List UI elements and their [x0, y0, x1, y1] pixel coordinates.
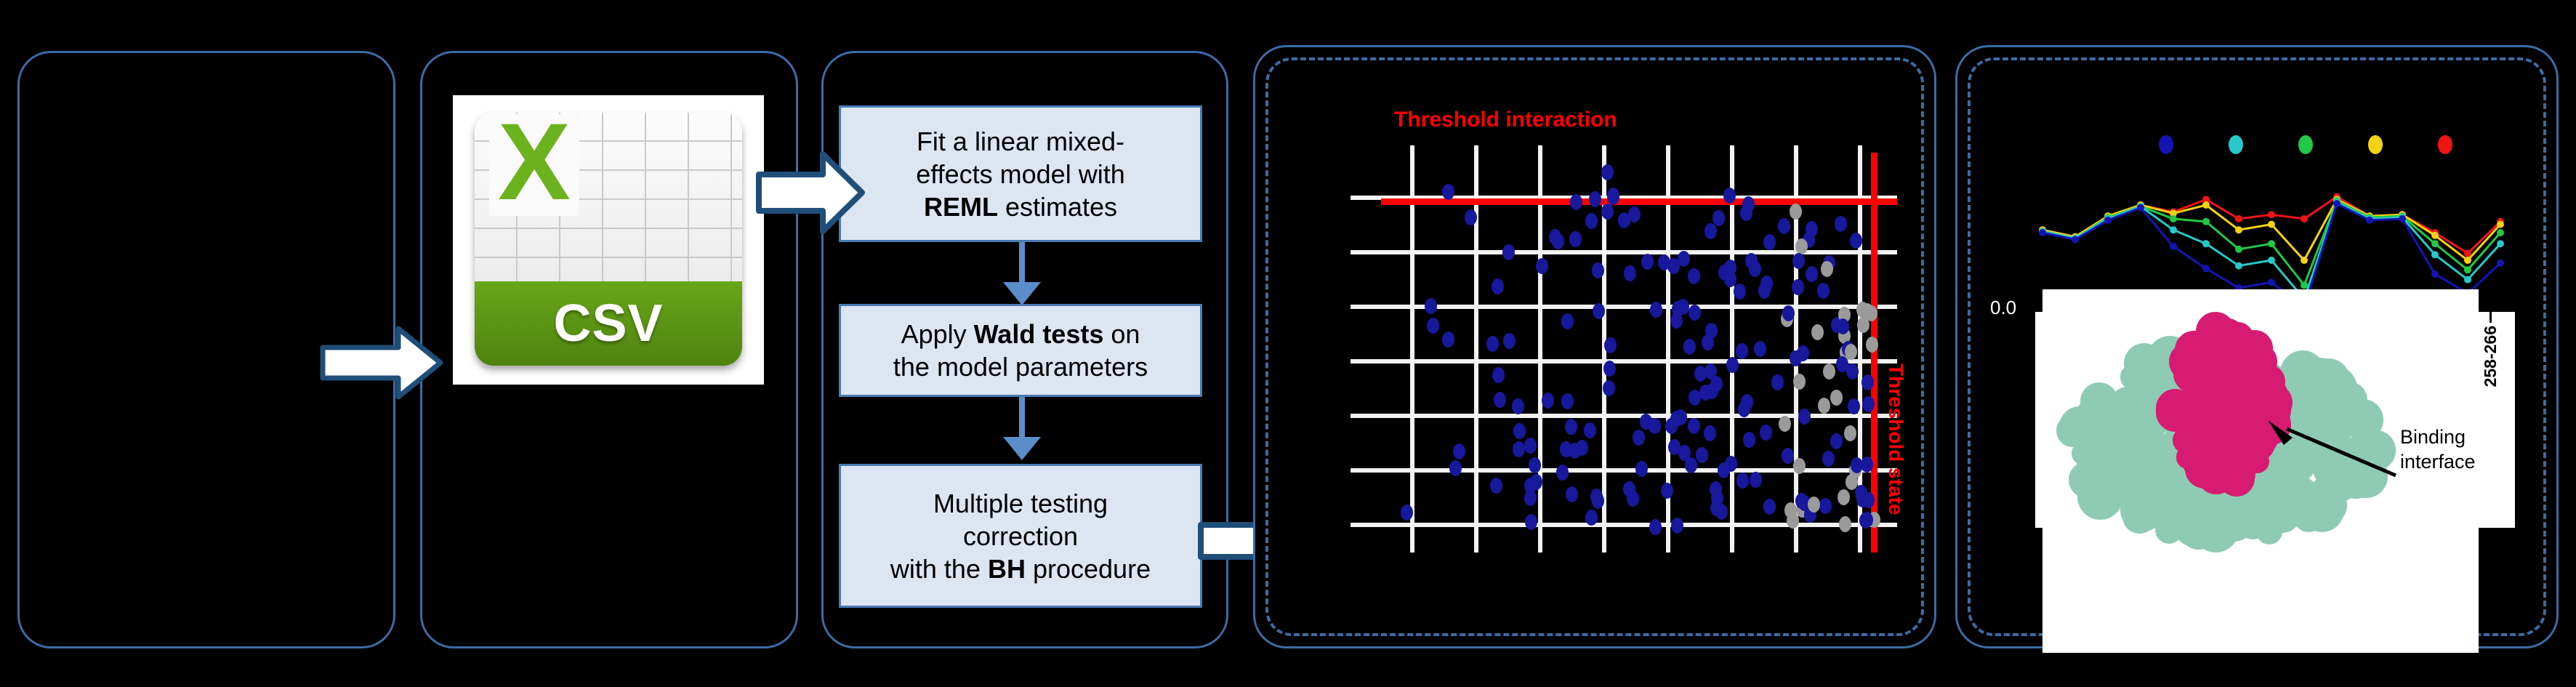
volcano-point-significant	[1641, 254, 1654, 270]
peptide-data-point	[2268, 221, 2275, 228]
volcano-point-significant	[1702, 334, 1714, 350]
peptide-data-point	[2268, 278, 2275, 286]
step-reml-line2: effects model with	[916, 159, 1124, 189]
volcano-point-significant	[1671, 518, 1683, 534]
arrow-input-to-csv	[320, 323, 443, 403]
peptide-data-point	[2497, 260, 2504, 267]
peptide-data-point	[2431, 251, 2439, 258]
binding-interface-line2: interface	[2400, 451, 2476, 473]
csv-card: X CSV	[453, 95, 764, 385]
volcano-point-significant	[1724, 271, 1736, 287]
connector-reml-to-wald	[1019, 242, 1025, 287]
peptide-data-point	[2301, 281, 2308, 289]
step-wald-line2: the model parameters	[893, 352, 1148, 382]
volcano-point-significant	[1494, 392, 1506, 408]
volcano-point-significant	[1718, 462, 1730, 478]
volcano-point-significant	[1603, 361, 1616, 377]
volcano-point-significant	[1585, 510, 1598, 526]
csv-file-icon: X CSV	[475, 113, 742, 366]
protein-blob	[2059, 406, 2101, 448]
volcano-point-significant	[1670, 313, 1683, 329]
peptide-data-point	[2235, 215, 2242, 222]
volcano-point-significant	[1536, 258, 1548, 274]
volcano-point-nonsignificant	[1865, 305, 1877, 321]
volcano-point-significant	[1749, 261, 1761, 277]
volcano-point-significant	[1678, 251, 1690, 267]
volcano-point-significant	[1778, 218, 1790, 234]
volcano-point-significant	[1601, 164, 1614, 180]
volcano-point-significant	[1649, 418, 1661, 434]
step-bh-bold: BH	[988, 554, 1026, 584]
volcano-point-nonsignificant	[1830, 390, 1843, 406]
volcano-point-significant	[1601, 204, 1614, 220]
volcano-point-significant	[1512, 398, 1524, 414]
threshold-interaction-label: Threshold interaction	[1394, 108, 1617, 132]
peptide-tick	[2522, 312, 2524, 323]
peptide-data-point	[2464, 266, 2471, 273]
csv-band: CSV	[475, 281, 742, 366]
volcano-point-significant	[1790, 350, 1802, 366]
peptide-data-point	[2137, 204, 2144, 212]
volcano-point-significant	[1607, 188, 1619, 204]
volcano-point-significant	[1513, 423, 1526, 439]
volcano-point-nonsignificant	[1823, 363, 1835, 379]
peptide-data-point	[2301, 257, 2308, 264]
step-reml-line1: Fit a linear mixed-	[917, 126, 1124, 156]
volcano-point-significant	[1649, 519, 1662, 535]
volcano-point-nonsignificant	[1790, 204, 1802, 220]
peptide-legend-swatch	[2229, 135, 2243, 154]
peptide-data-point	[2464, 276, 2471, 284]
volcano-grid: Threshold state	[1351, 145, 1897, 553]
peptide-data-point	[2399, 215, 2406, 222]
protein-blob	[2100, 434, 2126, 460]
volcano-point-significant	[1836, 356, 1848, 372]
step-reml-bold: REML	[924, 192, 998, 222]
volcano-point-significant	[1683, 339, 1696, 355]
threshold-state-line	[1871, 153, 1877, 553]
volcano-point-nonsignificant	[1821, 261, 1833, 277]
peptide-data-point	[2431, 240, 2439, 247]
volcano-point-significant	[1592, 262, 1604, 278]
volcano-point-significant	[1861, 512, 1873, 528]
protein-blob	[2134, 460, 2171, 497]
volcano-point-significant	[1760, 276, 1773, 292]
peptide-data-point	[2366, 217, 2373, 224]
volcano-point-significant	[1561, 313, 1574, 329]
step-reml-line3-rest: estimates	[998, 192, 1117, 222]
volcano-point-significant	[1524, 478, 1537, 494]
ligand-blob	[2213, 318, 2243, 348]
volcano-point-significant	[1750, 472, 1762, 488]
volcano-point-significant	[1589, 191, 1601, 207]
volcano-point-significant	[1771, 374, 1784, 390]
volcano-point-significant	[1561, 393, 1574, 409]
volcano-point-significant	[1556, 465, 1569, 481]
volcano-point-significant	[1782, 448, 1794, 464]
volcano-point-significant	[1848, 398, 1860, 414]
peptide-data-point	[2170, 215, 2177, 222]
peptide-data-point	[2202, 201, 2210, 209]
peptide-legend-swatch	[2368, 135, 2383, 154]
protein-blob	[2255, 499, 2290, 534]
peptide-data-point	[2170, 243, 2177, 250]
volcano-point-significant	[1585, 213, 1598, 229]
peptide-data-point	[2268, 240, 2275, 247]
peptide-data-point	[2497, 240, 2504, 247]
volcano-point-significant	[1502, 244, 1515, 260]
volcano-point-significant	[1569, 443, 1581, 459]
volcano-point-significant	[1726, 357, 1739, 373]
ligand-blob	[2156, 389, 2194, 427]
connector-wald-to-bh	[1019, 397, 1025, 442]
volcano-point-nonsignificant	[1838, 489, 1850, 505]
volcano-point-significant	[1570, 194, 1582, 210]
volcano-point-significant	[1736, 343, 1748, 359]
volcano-point-significant	[1743, 432, 1755, 448]
volcano-point-significant	[1524, 438, 1537, 454]
binding-interface-arrow-icon	[2261, 419, 2399, 484]
volcano-point-significant	[1760, 425, 1772, 441]
volcano-point-significant	[1704, 223, 1717, 239]
volcano-point-significant	[1792, 279, 1804, 295]
volcano-point-significant	[1624, 265, 1636, 281]
volcano-point-significant	[1618, 212, 1630, 228]
volcano-point-significant	[1736, 473, 1749, 489]
peptide-tick	[2490, 312, 2492, 323]
volcano-point-significant	[1822, 451, 1835, 467]
peptide-data-point	[2235, 262, 2242, 270]
volcano-point-significant	[1603, 380, 1615, 396]
volcano-plot: Threshold interaction Threshold state	[1301, 145, 1897, 553]
volcano-point-nonsignificant	[1839, 516, 1851, 532]
volcano-point-significant	[1593, 303, 1605, 319]
excel-x-glyph: X	[489, 114, 579, 216]
volcano-point-significant	[1401, 505, 1413, 521]
peptide-data-point	[2202, 240, 2210, 247]
volcano-point-significant	[1503, 333, 1516, 349]
volcano-point-significant	[1741, 394, 1753, 410]
volcano-point-significant	[1763, 499, 1776, 515]
volcano-point-significant	[1513, 441, 1525, 457]
volcano-point-nonsignificant	[1793, 374, 1806, 390]
step-wald-bold: Wald tests	[974, 319, 1104, 349]
peptide-data-point	[2202, 265, 2210, 272]
volcano-point-significant	[1565, 419, 1577, 435]
volcano-point-nonsignificant	[1779, 416, 1791, 432]
binding-interface-label: Binding interface	[2400, 425, 2476, 474]
volcano-point-significant	[1449, 460, 1462, 476]
volcano-point-significant	[1584, 422, 1596, 438]
volcano-point-nonsignificant	[1795, 238, 1808, 254]
volcano-point-significant	[1754, 341, 1766, 357]
volcano-point-significant	[1677, 299, 1689, 315]
peptide-tick-label: 258-266	[2481, 326, 2500, 387]
volcano-point-significant	[1688, 418, 1700, 434]
peptide-legend	[2013, 135, 2522, 157]
volcano-point-significant	[1704, 363, 1717, 379]
csv-panel: X CSV	[420, 51, 798, 648]
volcano-point-significant	[1806, 266, 1818, 282]
volcano-point-significant	[1817, 283, 1830, 299]
volcano-point-significant	[1712, 210, 1725, 226]
volcano-point-significant	[1696, 447, 1708, 463]
peptide-legend-swatch	[2298, 135, 2313, 154]
volcano-point-significant	[1486, 336, 1499, 352]
volcano-point-significant	[1635, 461, 1648, 477]
volcano-point-significant	[1830, 433, 1843, 449]
ligand-blob	[2257, 385, 2293, 420]
volcano-point-nonsignificant	[1784, 502, 1797, 518]
volcano-point-significant	[1427, 318, 1439, 334]
peptide-legend-swatch	[2159, 135, 2173, 154]
peptide-data-point	[2301, 215, 2308, 222]
volcano-point-significant	[1710, 481, 1722, 497]
volcano-point-significant	[1490, 478, 1502, 494]
volcano-point-significant	[1442, 184, 1454, 200]
volcano-point-nonsignificant	[1818, 398, 1830, 414]
peptide-data-point	[2268, 211, 2275, 218]
volcano-point-significant	[1529, 457, 1541, 473]
volcano-point-significant	[1623, 481, 1635, 497]
volcano-point-nonsignificant	[1808, 497, 1820, 513]
peptide-data-point	[2431, 270, 2439, 278]
volcano-point-significant	[1465, 209, 1477, 225]
step-reml-box[interactable]: Fit a linear mixed- effects model with R…	[839, 105, 1202, 242]
volcano-point-significant	[1742, 196, 1755, 212]
volcano-point-nonsignificant	[1866, 337, 1878, 353]
volcano-point-significant	[1425, 298, 1437, 314]
ligand-blob	[2191, 439, 2226, 473]
peptide-data-point	[2170, 226, 2177, 233]
volcano-point-significant	[1442, 332, 1454, 347]
peptide-data-point	[2431, 232, 2439, 239]
step-bh-line2: correction	[963, 521, 1078, 551]
peptide-data-point	[2268, 257, 2275, 264]
volcano-point-significant	[1604, 337, 1617, 353]
volcano-point-significant	[1715, 504, 1728, 520]
volcano-point-significant	[1862, 492, 1875, 508]
volcano-point-nonsignificant	[1845, 344, 1857, 360]
volcano-point-nonsignificant	[1844, 425, 1856, 441]
volcano-point-significant	[1492, 278, 1504, 294]
csv-label: CSV	[553, 294, 663, 353]
volcano-point-significant	[1850, 233, 1862, 249]
volcano-point-significant	[1819, 498, 1832, 514]
volcano-point-significant	[1453, 443, 1465, 459]
peptide-tick-label: 277-284	[2513, 326, 2533, 387]
peptide-data-point	[2039, 229, 2046, 236]
volcano-point-significant	[1688, 268, 1700, 284]
volcano-point-significant	[1763, 234, 1776, 250]
step-bh-pre: with the	[890, 554, 988, 584]
volcano-point-significant	[1661, 483, 1673, 499]
volcano-point-significant	[1792, 253, 1805, 269]
step-wald-box[interactable]: Apply Wald tests on the model parameters	[839, 304, 1202, 397]
peptide-data-point	[2464, 257, 2471, 264]
volcano-point-significant	[1569, 231, 1582, 247]
binding-interface-line1: Binding	[2400, 426, 2466, 448]
threshold-interaction-line	[1381, 198, 1897, 205]
peptide-data-point	[2072, 236, 2079, 244]
volcano-point-significant	[1633, 430, 1645, 446]
volcano-point-significant	[1734, 284, 1746, 300]
volcano-point-significant	[1704, 425, 1716, 441]
protein-blob	[2308, 358, 2333, 382]
volcano-point-significant	[1795, 493, 1808, 509]
volcano-point-significant	[1689, 305, 1701, 321]
peptide-data-point	[2235, 226, 2242, 233]
peptide-data-point	[2497, 221, 2504, 228]
volcano-point-significant	[1835, 216, 1847, 232]
volcano-point-significant	[1837, 318, 1849, 334]
volcano-point-significant	[1678, 445, 1691, 461]
connector-arrowhead-icon	[1003, 437, 1041, 460]
volcano-point-significant	[1542, 393, 1554, 409]
volcano-point-significant	[1592, 493, 1604, 509]
volcano-point-significant	[1650, 302, 1662, 318]
volcano-point-significant	[1525, 514, 1537, 530]
peptide-y-tick-0: 0.0	[1990, 297, 2016, 319]
volcano-point-significant	[1492, 367, 1505, 383]
volcano-point-significant	[1798, 409, 1811, 425]
protein-structure: Binding interface	[2042, 289, 2479, 653]
step-wald-post: on	[1103, 319, 1140, 349]
threshold-state-label: Threshold state	[1884, 363, 1907, 515]
step-bh-line1: Multiple testing	[933, 489, 1108, 518]
peptide-data-point	[2333, 200, 2340, 207]
volcano-point-significant	[1665, 418, 1678, 434]
peptide-data-point	[2235, 246, 2242, 253]
volcano-point-nonsignificant	[1793, 458, 1806, 474]
peptide-data-point	[2497, 229, 2504, 236]
arrow-csv-to-stats	[756, 145, 865, 240]
peptide-legend-swatch	[2438, 135, 2452, 154]
connector-arrowhead-icon	[1003, 282, 1041, 305]
step-bh-box[interactable]: Multiple testing correction with the BH …	[839, 464, 1202, 608]
peptide-data-point	[2104, 217, 2112, 224]
volcano-point-significant	[1723, 188, 1736, 204]
volcano-point-significant	[1566, 486, 1578, 502]
volcano-point-nonsignificant	[1811, 324, 1824, 340]
step-bh-post: procedure	[1026, 554, 1151, 584]
protein-blob	[2181, 516, 2215, 550]
peptide-data-point	[2202, 218, 2210, 225]
step-wald-pre: Apply	[901, 319, 974, 349]
